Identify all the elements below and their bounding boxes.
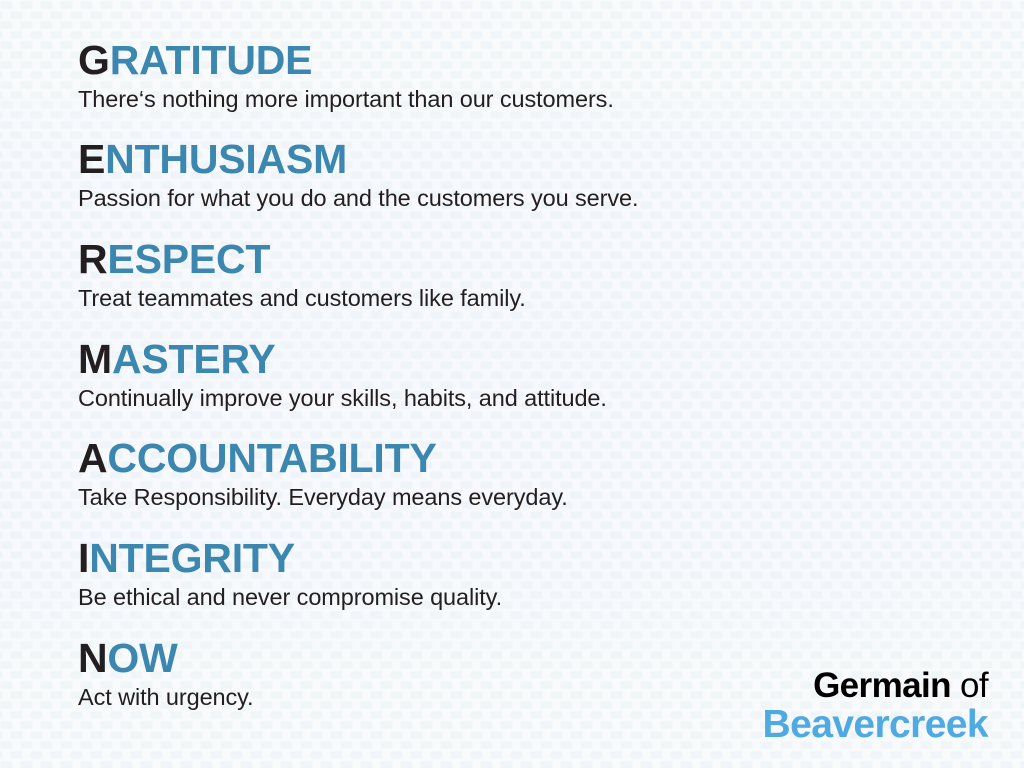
value-initial-letter: M [78,336,112,382]
value-description: Be ethical and never compromise quality. [78,585,502,610]
value-heading: GRATITUDE [78,40,614,81]
value-heading-rest: CCOUNTABILITY [107,435,436,481]
value-initial-letter: E [78,136,105,182]
value-description: Passion for what you do and the customer… [78,186,638,211]
dealership-logo: Germain of Beavercreek [763,668,988,744]
value-heading: INTEGRITY [78,538,502,579]
values-slide: GRATITUDE There‘s nothing more important… [0,0,1024,768]
value-item-mastery: MASTERY Continually improve your skills,… [78,339,607,411]
value-heading: ENTHUSIASM [78,139,638,180]
value-heading-rest: OW [107,635,177,681]
value-description: Take Responsibility. Everyday means ever… [78,485,568,510]
value-heading: NOW [78,638,254,679]
value-heading-rest: NTEGRITY [89,535,295,581]
value-heading: MASTERY [78,339,607,380]
value-item-accountability: ACCOUNTABILITY Take Responsibility. Ever… [78,438,568,510]
values-list: GRATITUDE There‘s nothing more important… [0,0,1024,768]
value-heading: RESPECT [78,239,526,280]
value-heading: ACCOUNTABILITY [78,438,568,479]
logo-line-primary: Germain of [763,668,988,703]
value-description: Act with urgency. [78,685,254,710]
value-initial-letter: I [78,535,89,581]
value-item-enthusiasm: ENTHUSIASM Passion for what you do and t… [78,139,638,211]
value-initial-letter: N [78,635,107,681]
value-heading-rest: ASTERY [112,336,276,382]
value-item-now: NOW Act with urgency. [78,638,254,710]
value-heading-rest: RATITUDE [110,37,313,83]
logo-connector-word: of [951,666,988,705]
value-item-respect: RESPECT Treat teammates and customers li… [78,239,526,311]
logo-brand-name: Germain [813,666,951,705]
value-initial-letter: G [78,37,110,83]
value-description: There‘s nothing more important than our … [78,87,614,112]
value-initial-letter: R [78,236,107,282]
logo-location-name: Beavercreek [763,705,988,744]
value-description: Treat teammates and customers like famil… [78,286,526,311]
value-item-integrity: INTEGRITY Be ethical and never compromis… [78,538,502,610]
value-heading-rest: NTHUSIASM [105,136,347,182]
value-item-gratitude: GRATITUDE There‘s nothing more important… [78,40,614,112]
value-heading-rest: ESPECT [107,236,270,282]
value-description: Continually improve your skills, habits,… [78,386,607,411]
value-initial-letter: A [78,435,107,481]
